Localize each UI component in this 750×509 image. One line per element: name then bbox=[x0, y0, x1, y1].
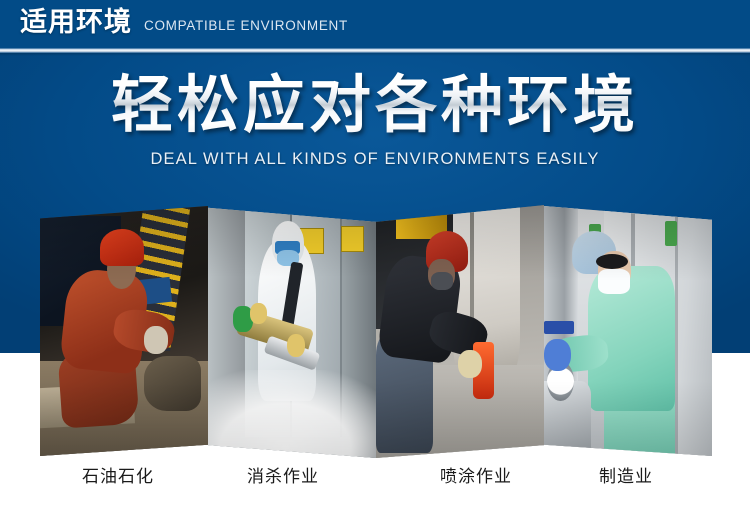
gallery-panel-manufacturing[interactable] bbox=[544, 206, 712, 456]
photo-manufacturing-lab bbox=[544, 206, 712, 456]
photo-spray-coating bbox=[376, 200, 544, 458]
promo-banner: 适用环境 COMPATIBLE ENVIRONMENT 轻松应对各种环境 DEA… bbox=[0, 0, 750, 509]
photo-oil-petrochemical bbox=[40, 206, 208, 456]
gallery-captions: 石油石化 消杀作业 喷涂作业 制造业 bbox=[0, 462, 750, 496]
photo-disinfection-fogging bbox=[208, 200, 376, 458]
caption-manufacturing: 制造业 bbox=[599, 462, 653, 487]
caption-disinfection: 消杀作业 bbox=[247, 462, 319, 487]
photo-gallery bbox=[0, 0, 750, 509]
caption-oil: 石油石化 bbox=[82, 462, 154, 487]
gallery-panel-disinfection[interactable] bbox=[208, 200, 376, 458]
caption-spraying: 喷涂作业 bbox=[440, 462, 512, 487]
gallery-panel-spraying[interactable] bbox=[376, 200, 544, 458]
gallery-panel-oil[interactable] bbox=[40, 206, 208, 456]
